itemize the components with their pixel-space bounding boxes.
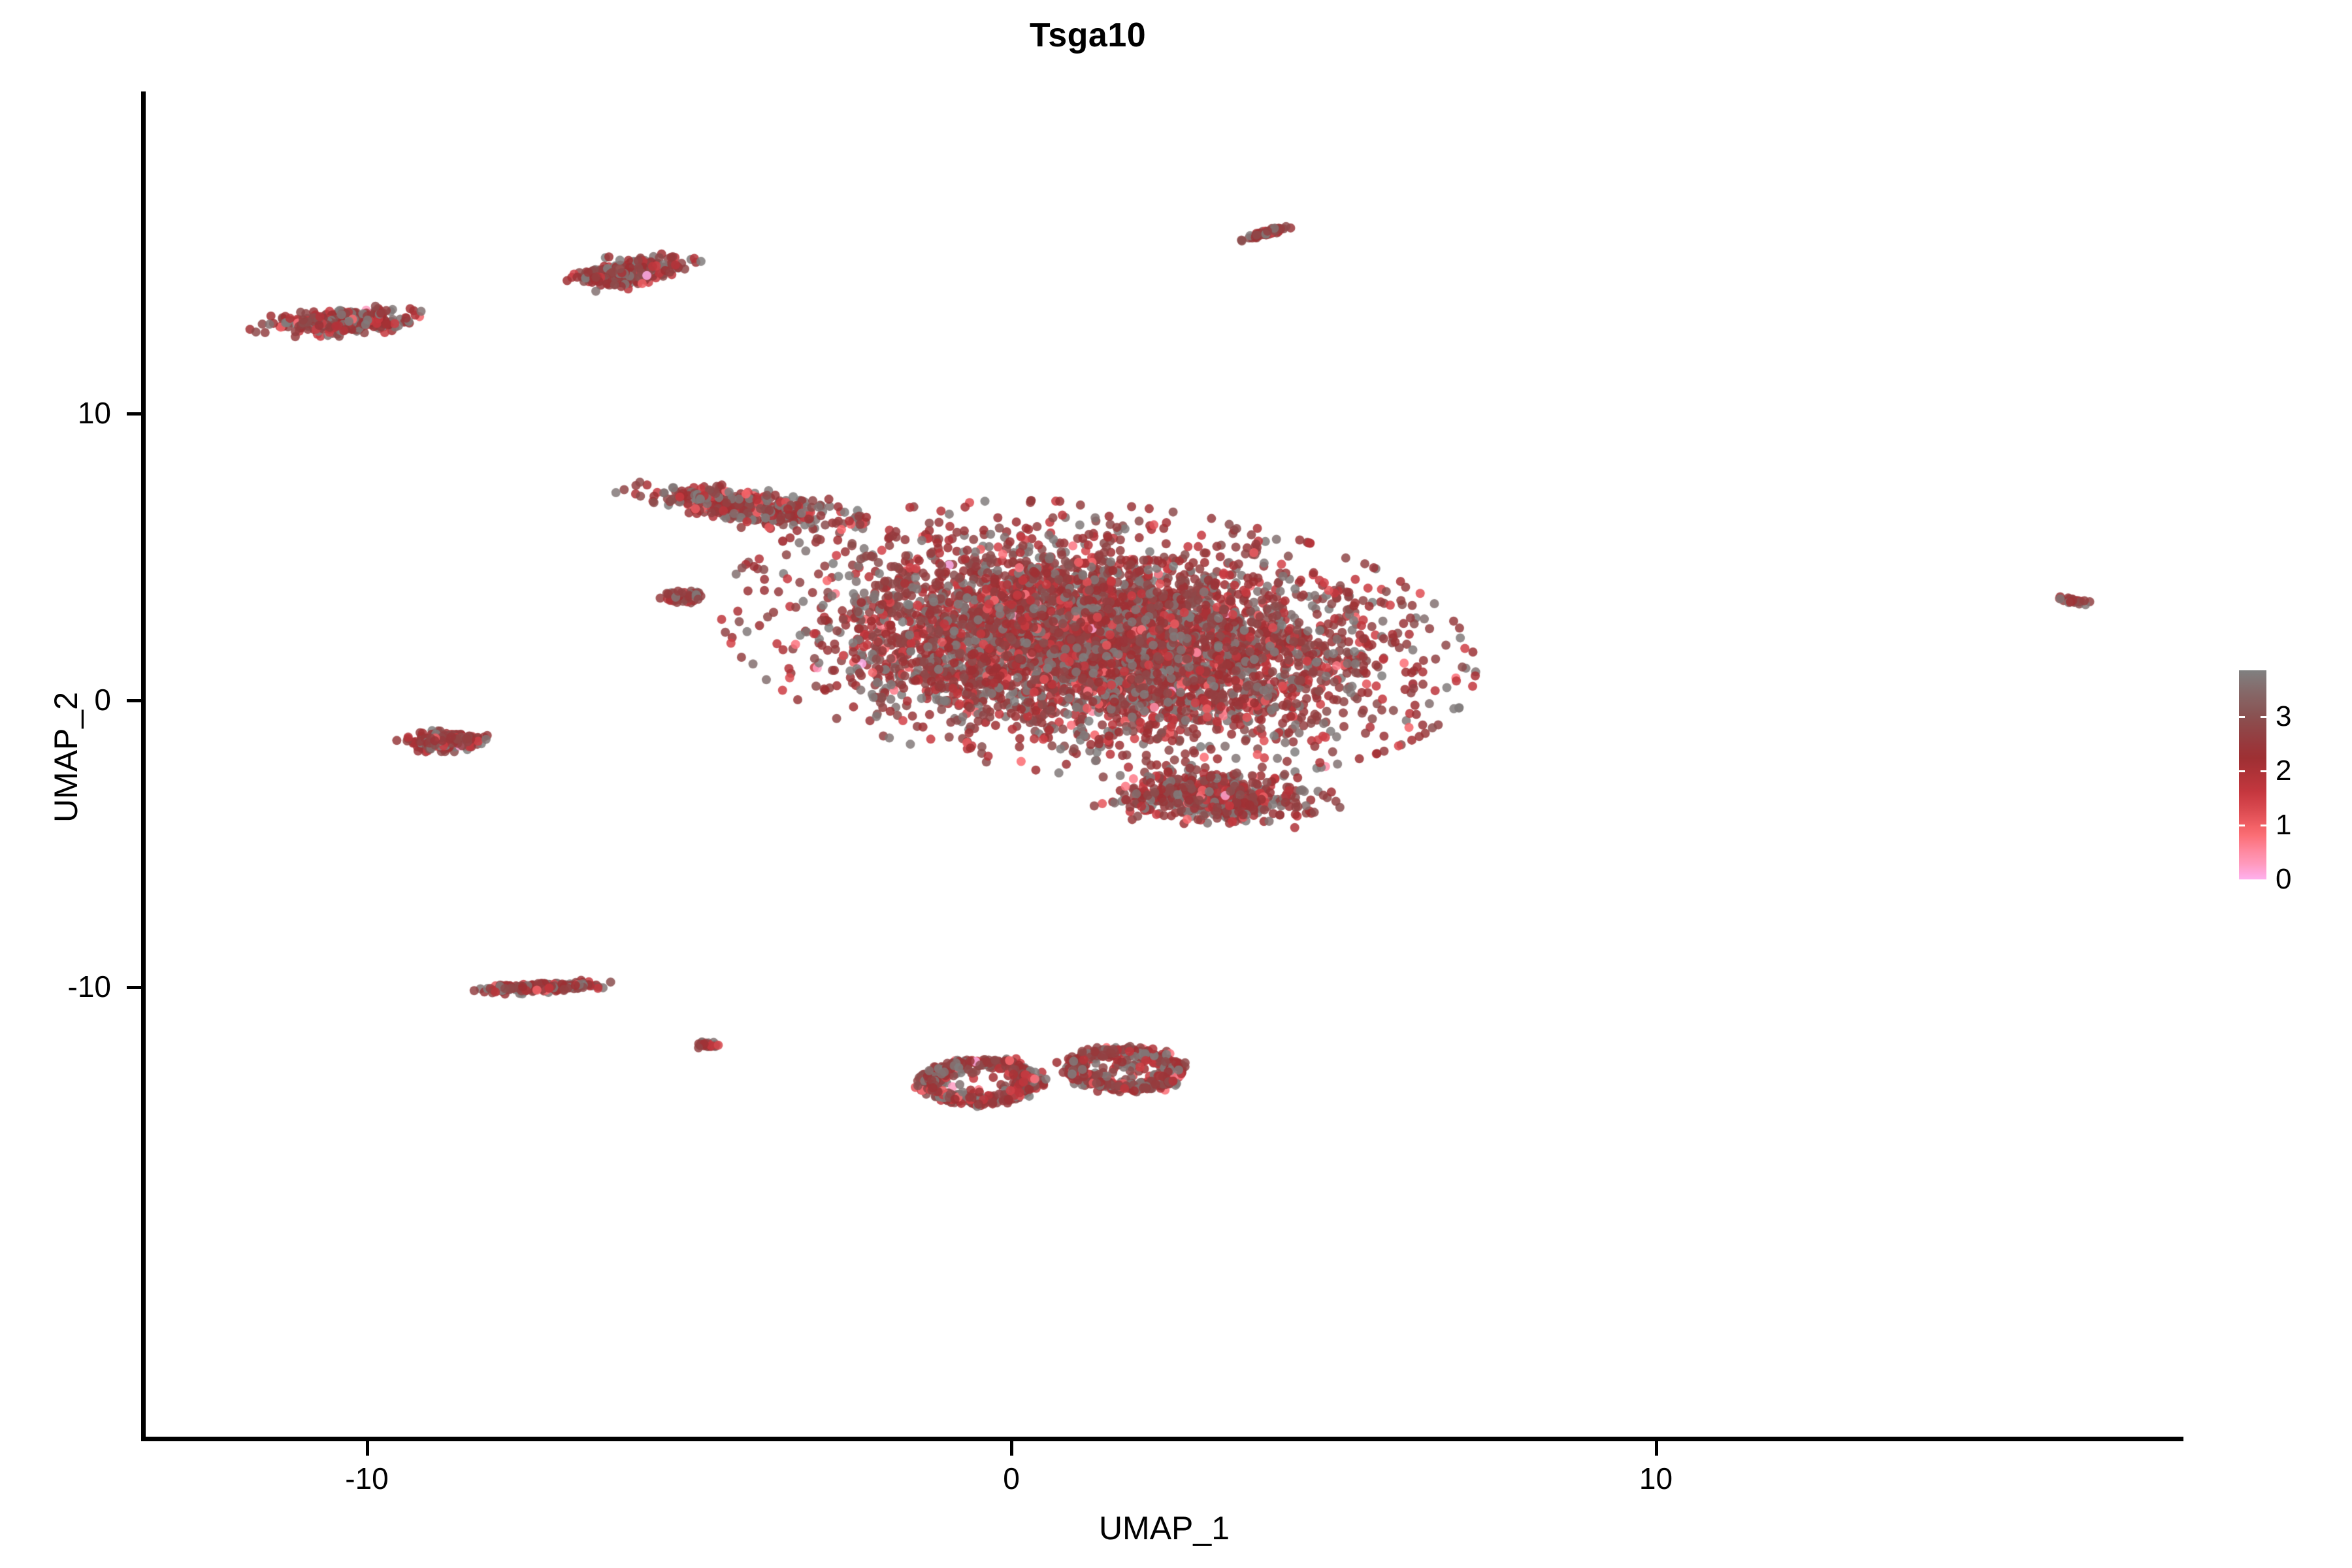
- y-tick-mark: [127, 412, 141, 416]
- legend-colorbar[interactable]: 3210: [2239, 670, 2337, 881]
- x-tick-mark: [366, 1441, 369, 1456]
- x-tick-label: -10: [345, 1461, 388, 1496]
- plot-panel[interactable]: [145, 91, 2183, 1439]
- y-tick-mark: [127, 699, 141, 702]
- x-tick-mark: [1010, 1441, 1013, 1456]
- colorbar-tick-label: 2: [2276, 755, 2291, 787]
- page-title: Tsga10: [0, 16, 2176, 55]
- x-axis-line: [141, 1437, 2183, 1441]
- x-tick-label: 0: [1003, 1461, 1020, 1496]
- x-axis-title: UMAP_1: [145, 1509, 2183, 1547]
- y-tick-mark: [127, 986, 141, 989]
- colorbar-tick-label: 1: [2276, 809, 2291, 841]
- colorbar-gradient: [2239, 670, 2266, 879]
- scatter-canvas[interactable]: [145, 91, 2183, 1439]
- y-axis-line: [141, 91, 146, 1440]
- colorbar-tick-label: 3: [2276, 700, 2291, 733]
- umap-feature-plot: Tsga10 100-10 -10010 UMAP_1 UMAP_2 3210: [0, 0, 2352, 1568]
- x-tick-label: 10: [1639, 1461, 1673, 1496]
- colorbar-tick-label: 0: [2276, 863, 2291, 896]
- y-axis-title: UMAP_2: [47, 84, 85, 1431]
- x-tick-mark: [1655, 1441, 1658, 1456]
